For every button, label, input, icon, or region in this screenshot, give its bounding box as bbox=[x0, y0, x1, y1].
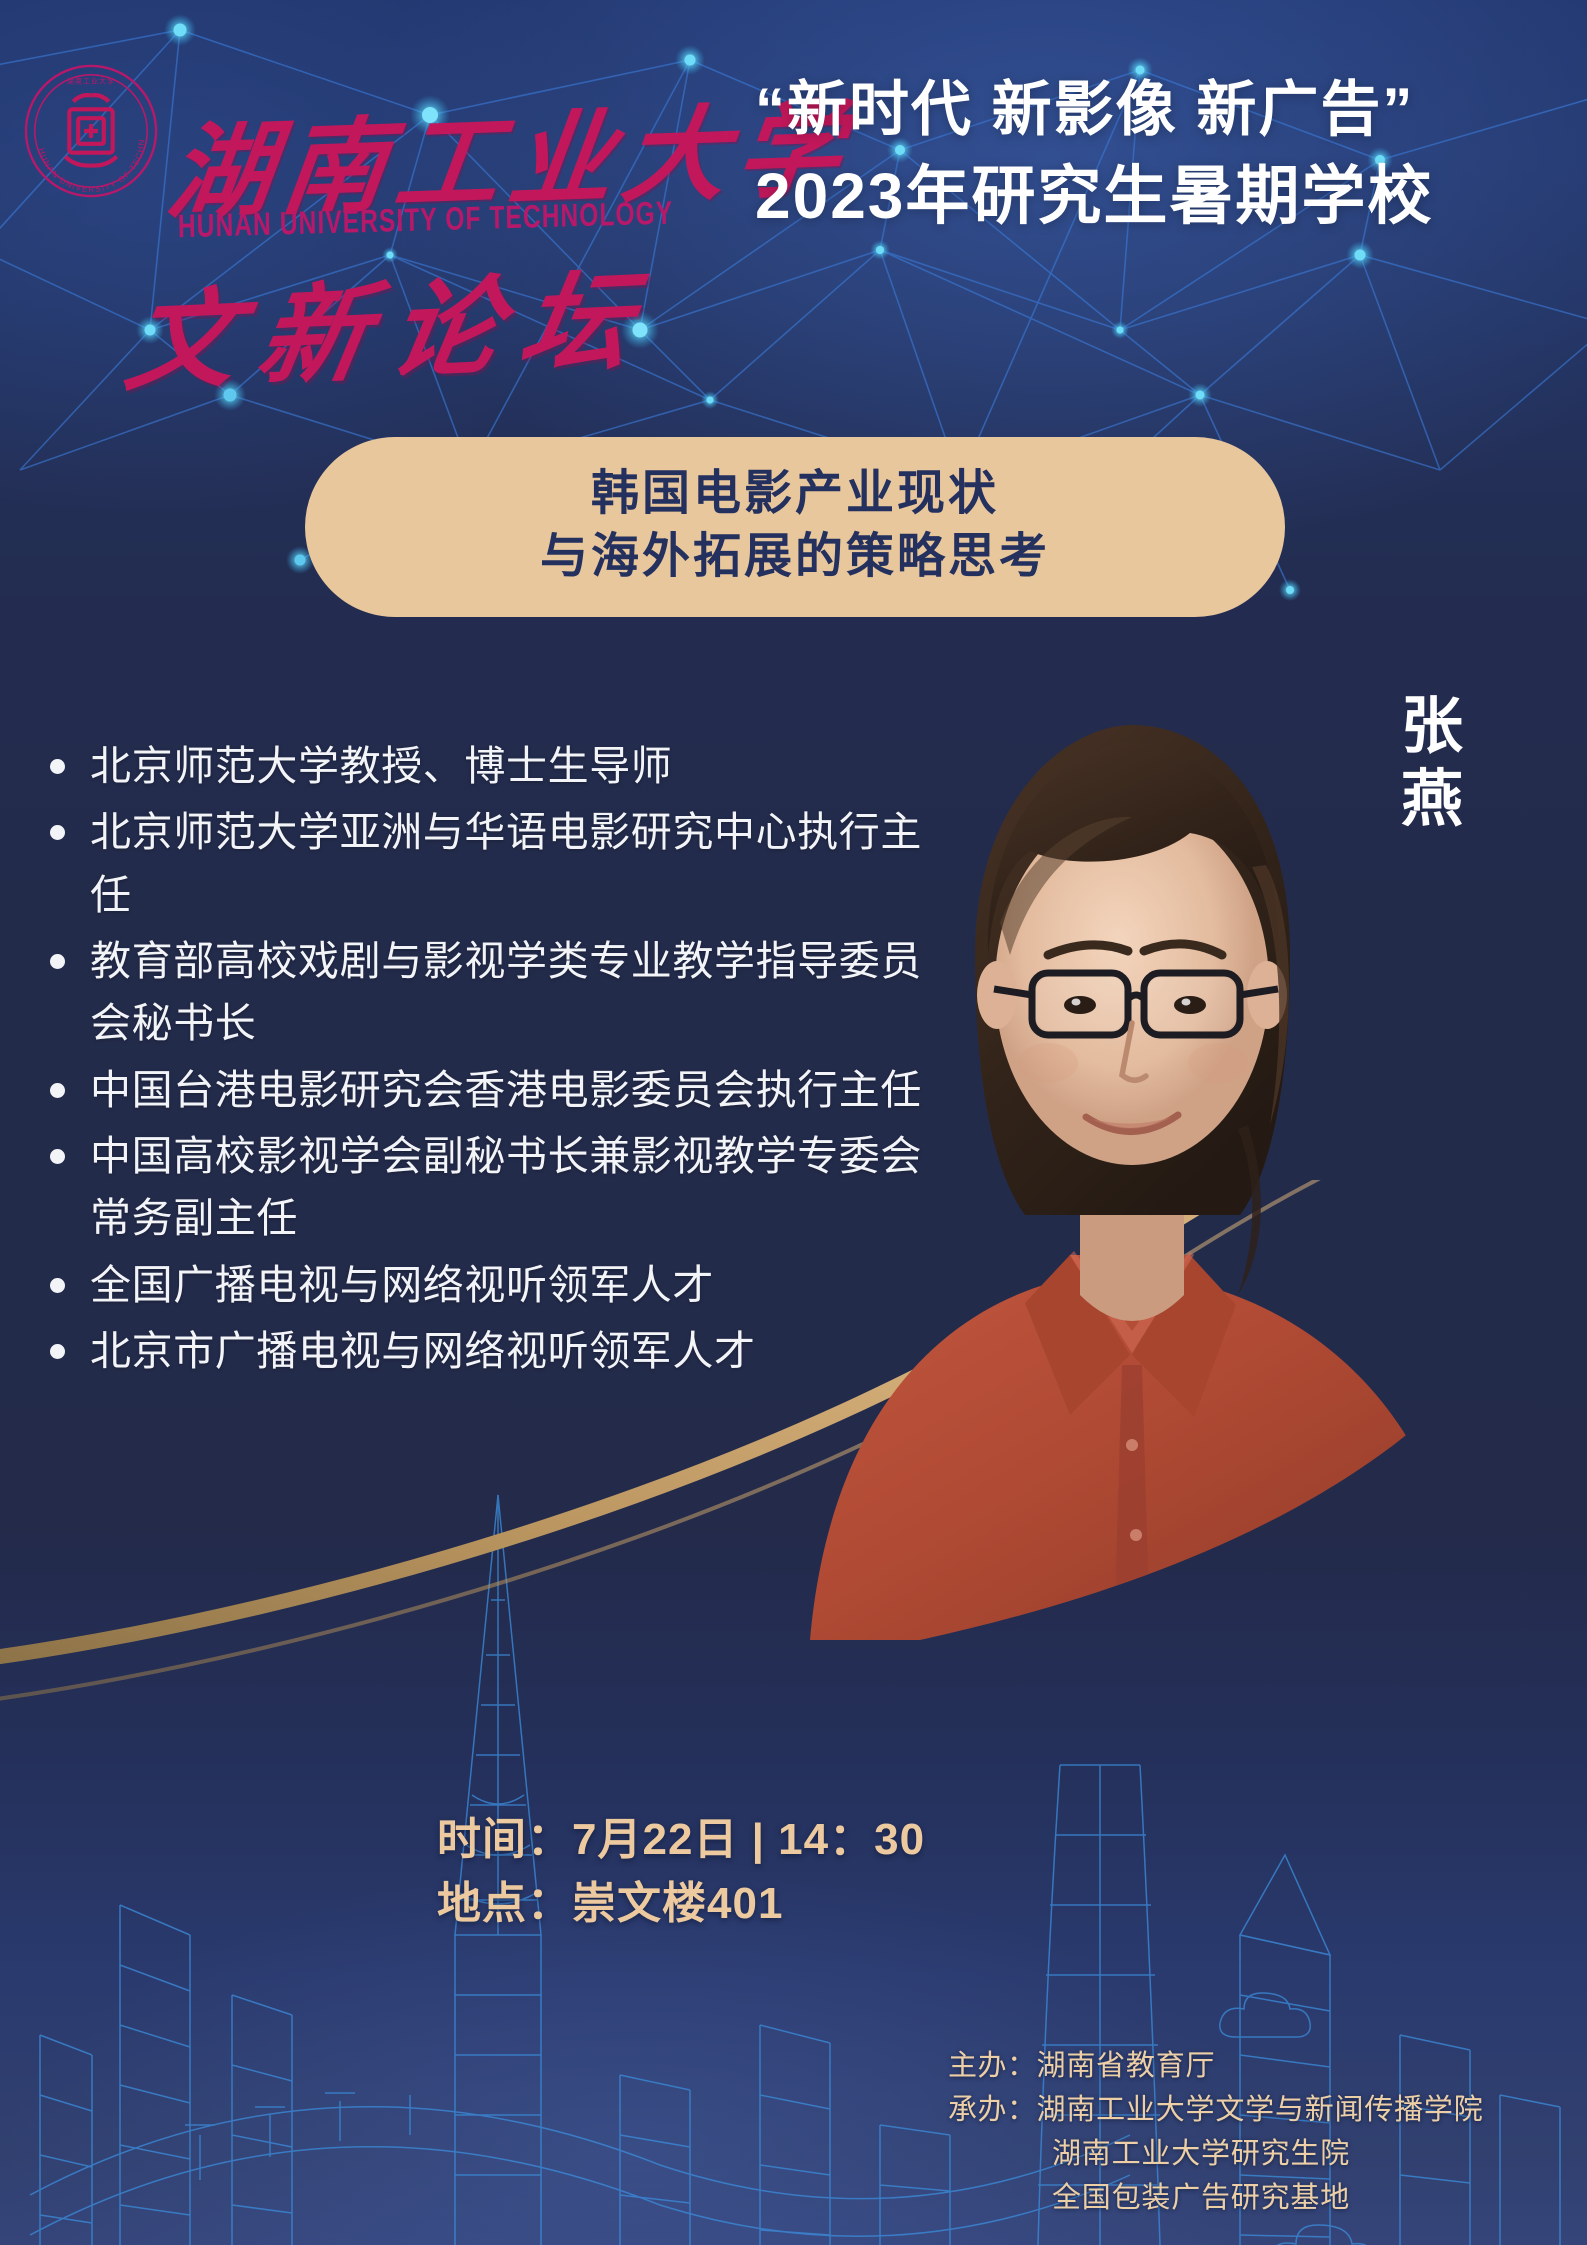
lecture-title-line-1: 韩国电影产业现状 bbox=[591, 463, 999, 525]
event-program-name: 2023年研究生暑期学校 bbox=[755, 161, 1555, 233]
coorganizer-row-3: 全国包装广告研究基地 bbox=[948, 2176, 1484, 2220]
event-time-label: 时间： bbox=[437, 1815, 572, 1864]
bio-bullet-list: 北京师范大学教授、博士生导师 北京师范大学亚洲与华语电影研究中心执行主任 教育部… bbox=[30, 735, 930, 1382]
speaker-bio-list: 北京师范大学教授、博士生导师 北京师范大学亚洲与华语电影研究中心执行主任 教育部… bbox=[30, 735, 930, 1386]
lecture-title-banner: 韩国电影产业现状 与海外拓展的策略思考 bbox=[305, 437, 1285, 617]
coorganizer-value-3: 全国包装广告研究基地 bbox=[1052, 2182, 1350, 2214]
list-item: 中国高校影视学会副秘书长兼影视教学专委会常务副主任 bbox=[30, 1125, 930, 1250]
host-value: 湖南省教育厅 bbox=[1037, 2050, 1216, 2082]
list-item: 教育部高校戏剧与影视学类专业教学指导委员会秘书长 bbox=[30, 930, 930, 1055]
event-time-value: 7月22日 | 14：30 bbox=[572, 1815, 925, 1864]
event-place-row: 地点：崇文楼401 bbox=[437, 1872, 925, 1936]
event-details: 时间：7月22日 | 14：30 地点：崇文楼401 bbox=[437, 1808, 925, 1936]
organizers-footer: 主办：湖南省教育厅 承办：湖南工业大学文学与新闻传播学院 湖南工业大学研究生院 … bbox=[948, 2044, 1484, 2220]
event-slogan: “新时代 新影像 新广告” bbox=[755, 76, 1555, 143]
poster-root: 湖南工业大学 HUNAN UNIVERSITY OF TECHNOLOGY 湖南… bbox=[0, 0, 1587, 2245]
list-item: 北京师范大学亚洲与华语电影研究中心执行主任 bbox=[30, 801, 930, 926]
event-time-row: 时间：7月22日 | 14：30 bbox=[437, 1808, 925, 1872]
speaker-name: 张燕 bbox=[1389, 690, 1475, 836]
list-item: 北京市广播电视与网络视听领军人才 bbox=[30, 1320, 930, 1382]
lecture-title-line-2: 与海外拓展的策略思考 bbox=[540, 526, 1050, 588]
forum-name-cn: 文新论坛 bbox=[117, 233, 668, 412]
svg-text:湖南工业大学: 湖南工业大学 bbox=[67, 77, 115, 86]
coorganizer-label: 承办： bbox=[948, 2094, 1037, 2126]
list-item: 北京师范大学教授、博士生导师 bbox=[30, 735, 930, 797]
coorganizer-row: 承办：湖南工业大学文学与新闻传播学院 bbox=[948, 2088, 1484, 2132]
host-label: 主办： bbox=[948, 2050, 1037, 2082]
host-row: 主办：湖南省教育厅 bbox=[948, 2044, 1484, 2088]
coorganizer-value-2: 湖南工业大学研究生院 bbox=[1052, 2138, 1350, 2170]
coorganizer-row-2: 湖南工业大学研究生院 bbox=[948, 2132, 1484, 2176]
header-titles: “新时代 新影像 新广告” 2023年研究生暑期学校 bbox=[755, 76, 1555, 233]
university-seal-icon: 湖南工业大学 HUNAN UNIVERSITY OF TECHNOLOGY bbox=[22, 62, 160, 200]
event-place-label: 地点： bbox=[437, 1879, 572, 1928]
poster-header: 湖南工业大学 HUNAN UNIVERSITY OF TECHNOLOGY 湖南… bbox=[0, 0, 1587, 340]
coorganizer-value-1: 湖南工业大学文学与新闻传播学院 bbox=[1037, 2094, 1484, 2126]
university-branding: 湖南工业大学 HUNAN UNIVERSITY OF TECHNOLOGY 湖南… bbox=[22, 40, 682, 340]
event-place-value: 崇文楼401 bbox=[572, 1879, 783, 1928]
list-item: 全国广播电视与网络视听领军人才 bbox=[30, 1254, 930, 1316]
list-item: 中国台港电影研究会香港电影委员会执行主任 bbox=[30, 1059, 930, 1121]
